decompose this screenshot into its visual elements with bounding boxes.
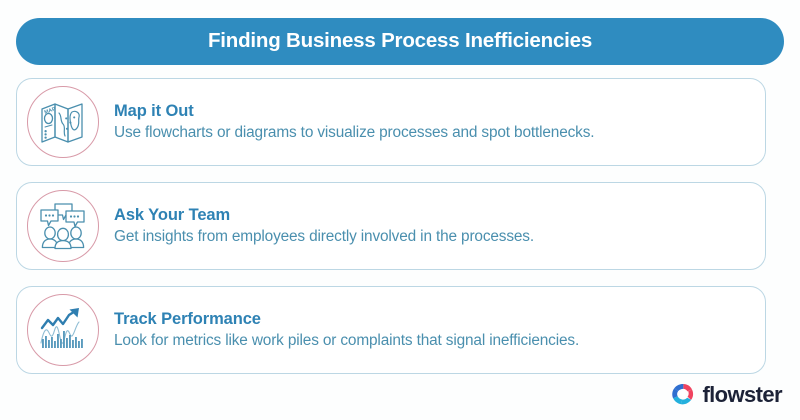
card-text-block: Map it Out Use flowcharts or diagrams to… bbox=[102, 101, 765, 143]
brand-name: flowster bbox=[702, 384, 782, 406]
tip-card-track-performance: Track Performance Look for metrics like … bbox=[16, 286, 766, 374]
icon-container: MAP bbox=[24, 83, 102, 161]
card-description: Look for metrics like work piles or comp… bbox=[114, 331, 749, 351]
team-speech-bubbles-icon bbox=[36, 199, 90, 253]
page-title: Finding Business Process Inefficiencies bbox=[208, 31, 592, 52]
card-title: Track Performance bbox=[114, 309, 749, 330]
infographic-page: Finding Business Process Inefficiencies bbox=[0, 0, 800, 420]
card-description: Get insights from employees directly inv… bbox=[114, 227, 749, 247]
folded-map-icon: MAP bbox=[36, 95, 90, 149]
tip-card-ask-your-team: Ask Your Team Get insights from employee… bbox=[16, 182, 766, 270]
card-title: Ask Your Team bbox=[114, 205, 749, 226]
card-description: Use flowcharts or diagrams to visualize … bbox=[114, 123, 749, 143]
tip-card-map-it-out: MAP Map it Out bbox=[16, 78, 766, 166]
card-text-block: Ask Your Team Get insights from employee… bbox=[102, 205, 765, 247]
brand-logo: flowster bbox=[670, 382, 782, 408]
growth-chart-icon bbox=[36, 303, 90, 357]
icon-container bbox=[24, 187, 102, 265]
icon-container bbox=[24, 291, 102, 369]
card-title: Map it Out bbox=[114, 101, 749, 122]
header-banner: Finding Business Process Inefficiencies bbox=[16, 18, 784, 65]
flowster-logo-icon bbox=[670, 382, 696, 408]
card-text-block: Track Performance Look for metrics like … bbox=[102, 309, 765, 351]
